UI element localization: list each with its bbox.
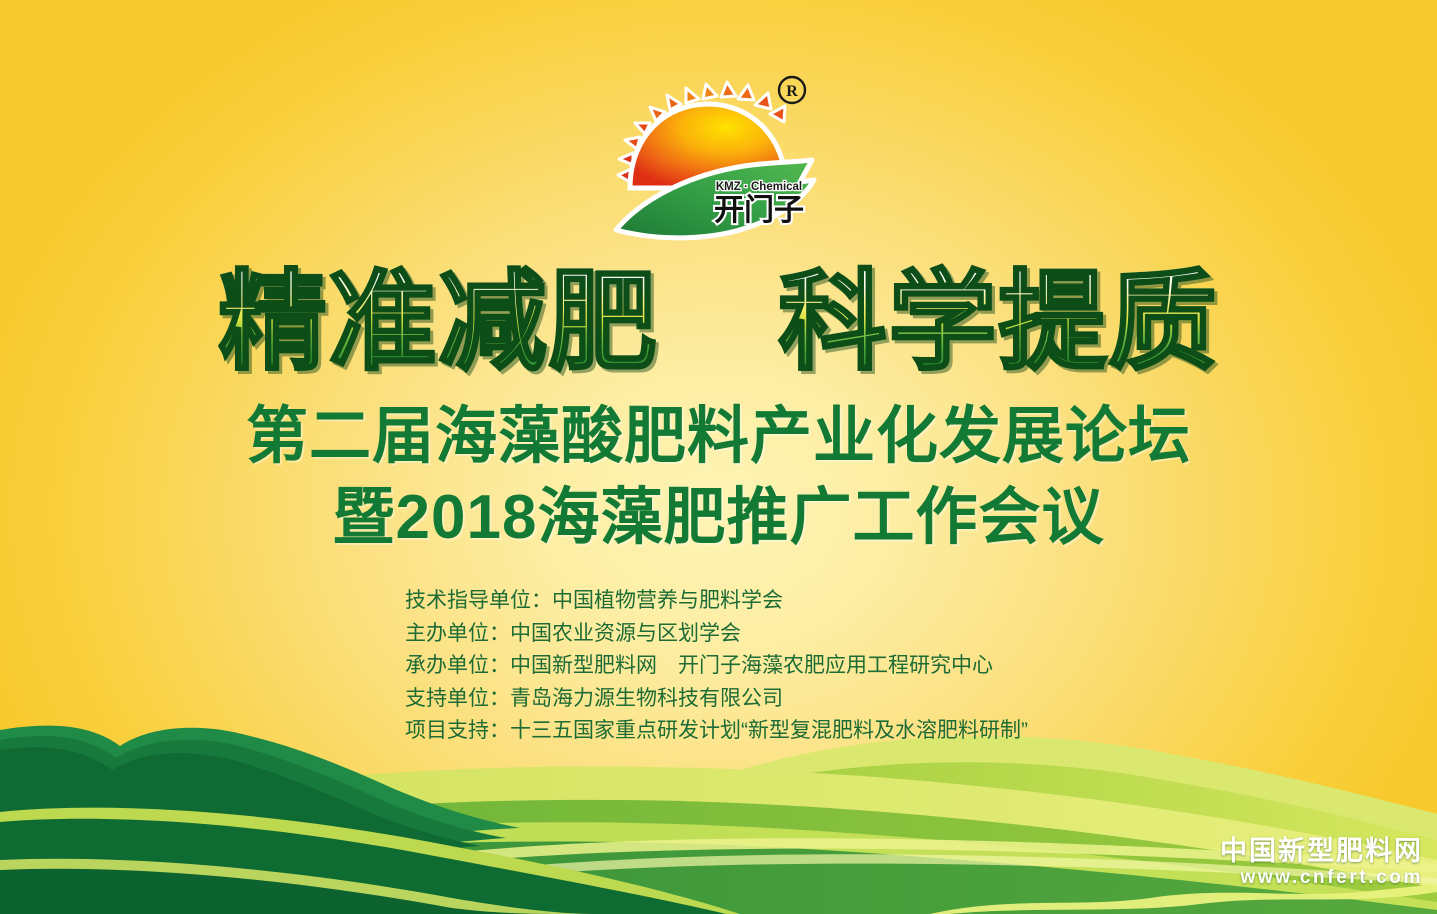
detail-line-organizer: 承办单位：中国新型肥料网 开门子海藻农肥应用工程研究中心 [405, 650, 1028, 683]
subtitle-line-1: 第二届海藻酸肥料产业化发展论坛 [0, 406, 1437, 468]
logo-brand-cn: 开门子 [714, 193, 804, 228]
page-title: 精准减肥 科学提质 [0, 268, 1437, 376]
detail-line-host: 主办单位：中国农业资源与区划学会 [405, 618, 1028, 651]
company-logo: R KMZ · Chemical 开门子 [604, 62, 834, 252]
svg-text:R: R [786, 83, 798, 100]
conference-poster: R KMZ · Chemical 开门子 精准减肥 科学提质 第二届海藻酸肥料产… [0, 0, 1437, 914]
headline-part-1: 精准减肥 [218, 268, 658, 376]
headline-part-2: 科学提质 [779, 268, 1219, 376]
watermark-site-name: 中国新型肥料网 [1220, 836, 1423, 866]
registered-trademark-icon: R [779, 77, 805, 103]
subtitle-line-2: 暨2018海藻肥推广工作会议 [0, 487, 1437, 549]
detail-line-technical-guidance: 技术指导单位：中国植物营养与肥料学会 [405, 585, 1028, 618]
detail-line-supporter: 支持单位：青岛海力源生物科技有限公司 [405, 683, 1028, 716]
organizer-details: 技术指导单位：中国植物营养与肥料学会 主办单位：中国农业资源与区划学会 承办单位… [405, 585, 1028, 748]
site-watermark: 中国新型肥料网 www.cnfert.com [1220, 836, 1423, 890]
watermark-site-url: www.cnfert.com [1220, 866, 1423, 890]
detail-line-project-support: 项目支持：十三五国家重点研发计划“新型复混肥料及水溶肥料研制” [405, 715, 1028, 748]
logo-brand-en: KMZ · Chemical [715, 181, 801, 193]
